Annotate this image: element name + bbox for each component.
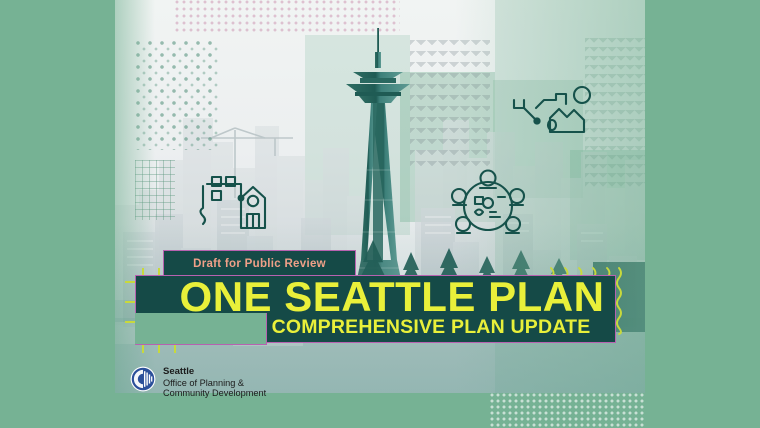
cover-stage: Draft for Public Review ONE SEATTLE PLAN…	[0, 0, 760, 428]
report-cover-artwork: Draft for Public Review ONE SEATTLE PLAN…	[115, 0, 645, 393]
footer-text-block: Seattle Office of Planning & Community D…	[163, 366, 266, 399]
title-lockup: Draft for Public Review ONE SEATTLE PLAN…	[115, 0, 645, 393]
footer-logo-lockup: Seattle Office of Planning & Community D…	[130, 366, 266, 399]
eyebrow-label: Draft for Public Review	[193, 258, 326, 270]
seattle-city-seal-icon	[130, 366, 156, 392]
footer-department-line-1: Office of Planning &	[163, 378, 266, 389]
page-subtitle: COMPREHENSIVE PLAN UPDATE	[245, 315, 617, 339]
footer-department-line-2: Community Development	[163, 388, 266, 399]
page-title: ONE SEATTLE PLAN	[167, 276, 617, 318]
footer-city-name: Seattle	[163, 367, 266, 378]
white-dot-grid-pattern	[490, 393, 645, 428]
